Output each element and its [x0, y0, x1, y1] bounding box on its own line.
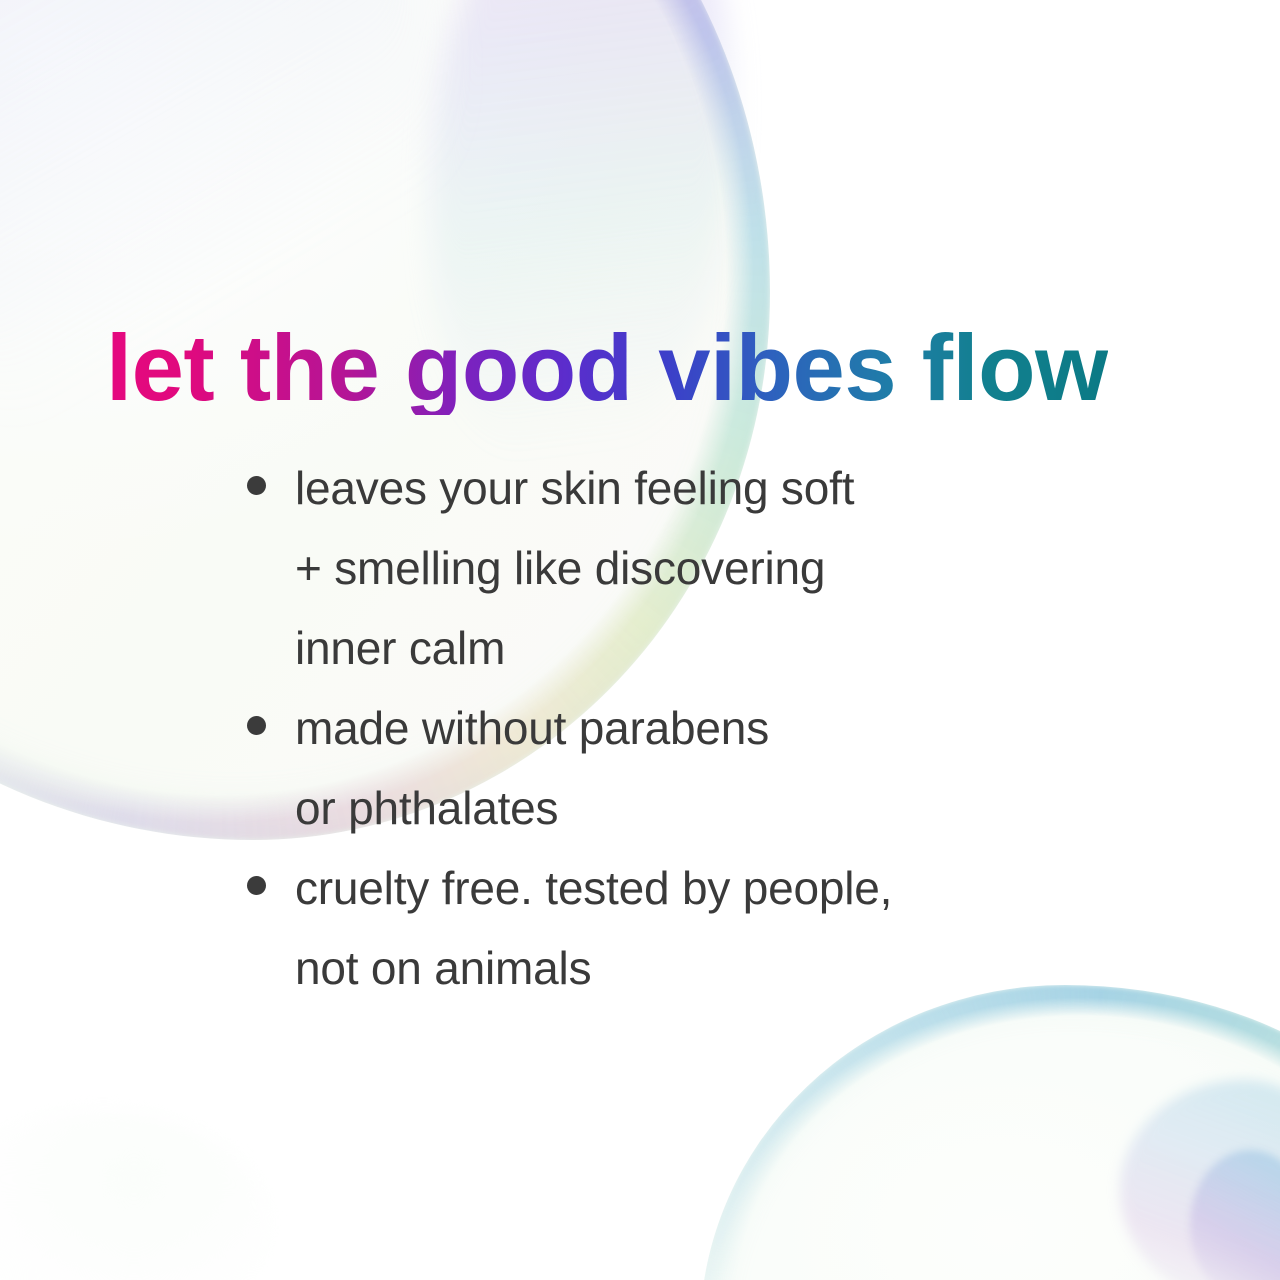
product-benefits-card: let the good vibes flow leaves your skin…: [0, 0, 1280, 1280]
card-content: let the good vibes flow leaves your skin…: [0, 0, 1280, 1280]
list-item-label: cruelty free. tested by people, not on a…: [295, 848, 1080, 1008]
bullet-dot-icon: [247, 476, 266, 495]
list-item: cruelty free. tested by people, not on a…: [240, 848, 1080, 1008]
bullet-dot-icon: [247, 876, 266, 895]
bullet-dot-icon: [247, 716, 266, 735]
list-item: made without parabens or phthalates: [240, 688, 1080, 848]
list-item-label: leaves your skin feeling soft + smelling…: [295, 448, 1080, 688]
page-title: let the good vibes flow: [106, 321, 1108, 415]
list-item: leaves your skin feeling soft + smelling…: [240, 448, 1080, 688]
list-item-label: made without parabens or phthalates: [295, 688, 1080, 848]
benefits-list: leaves your skin feeling soft + smelling…: [240, 448, 1080, 1008]
